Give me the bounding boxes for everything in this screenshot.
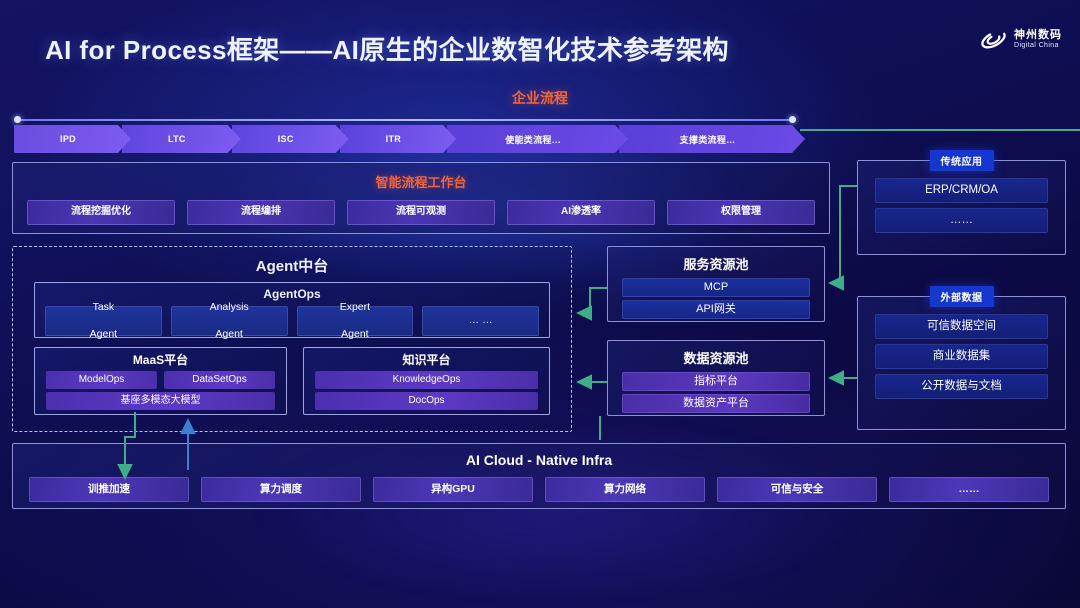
infra-item[interactable]: 可信与安全 (717, 477, 877, 502)
knowledge-title: 知识平台 (304, 351, 549, 368)
data-pool-item-list: 指标平台数据资产平台 (608, 367, 824, 413)
knowledge-item[interactable]: DocOps (315, 392, 538, 410)
knowledge-row-2: DocOps (304, 389, 549, 410)
logo-text-en: Digital China (1014, 42, 1062, 49)
workbench-item[interactable]: 流程可观测 (347, 200, 495, 225)
maas-item[interactable]: 基座多模态大模型 (46, 392, 275, 410)
data-pool-item[interactable]: 指标平台 (622, 372, 810, 391)
workbench-title: 智能流程工作台 (13, 172, 829, 191)
service-resource-pool-panel: 服务资源池 MCPAPI网关 (607, 246, 825, 322)
ai-cloud-native-infra-panel: AI Cloud - Native Infra 训推加速算力调度异构GPU算力网… (12, 443, 1066, 509)
agentops-item[interactable]: … … (422, 306, 539, 336)
external-data-item[interactable]: 商业数据集 (875, 344, 1048, 369)
workbench-item[interactable]: 权限管理 (667, 200, 815, 225)
intelligent-process-workbench-panel: 智能流程工作台 流程挖掘优化流程编排流程可观测AI渗透率权限管理 (12, 162, 830, 234)
process-chevron-label: 支撑类流程… (680, 133, 745, 146)
knowledge-row-1: KnowledgeOps (304, 368, 549, 389)
agentops-item[interactable]: AnalysisAgent (171, 306, 288, 336)
process-chevron-label: ISC (278, 134, 303, 144)
external-data-item[interactable]: 公开数据与文档 (875, 374, 1048, 399)
agentops-item-line: Agent (341, 328, 368, 341)
maas-row-2: 基座多模态大模型 (35, 389, 286, 410)
service-pool-item[interactable]: API网关 (622, 300, 810, 319)
external-data-item[interactable]: 可信数据空间 (875, 314, 1048, 339)
maas-platform-panel: MaaS平台 ModelOpsDataSetOps 基座多模态大模型 (34, 347, 287, 415)
infra-item[interactable]: …… (889, 477, 1049, 502)
agentops-item[interactable]: ExpertAgent (297, 306, 414, 336)
service-pool-item-list: MCPAPI网关 (608, 273, 824, 319)
service-pool-title: 服务资源池 (608, 254, 824, 273)
service-pool-item[interactable]: MCP (622, 278, 810, 297)
infra-item[interactable]: 算力网络 (545, 477, 705, 502)
agentops-item-list: TaskAgentAnalysisAgentExpertAgent… … (35, 301, 549, 336)
workbench-item[interactable]: 流程挖掘优化 (27, 200, 175, 225)
agentops-panel: AgentOps TaskAgentAnalysisAgentExpertAge… (34, 282, 550, 338)
agent-mid-platform-panel: Agent中台 AgentOps TaskAgentAnalysisAgentE… (12, 246, 572, 432)
infra-title: AI Cloud - Native Infra (13, 452, 1065, 468)
process-chevron[interactable]: ITR (340, 125, 456, 153)
workbench-item-list: 流程挖掘优化流程编排流程可观测AI渗透率权限管理 (13, 191, 829, 225)
process-chevron[interactable]: IPD (14, 125, 131, 153)
process-chevron[interactable]: 使能类流程… (447, 125, 628, 153)
process-chevron[interactable]: LTC (122, 125, 241, 153)
external-data-item-list: 可信数据空间商业数据集公开数据与文档 (858, 297, 1065, 399)
maas-title: MaaS平台 (35, 351, 286, 368)
agentops-title: AgentOps (35, 287, 549, 301)
logo-text-cn: 神州数码 (1014, 30, 1062, 42)
swirl-logo-icon (980, 26, 1007, 53)
process-chevron[interactable]: ISC (232, 125, 349, 153)
process-rail-dot-right (789, 116, 796, 123)
infra-item[interactable]: 训推加速 (29, 477, 189, 502)
agentops-item-line: Agent (215, 328, 242, 341)
knowledge-platform-panel: 知识平台 KnowledgeOps DocOps (303, 347, 550, 415)
workbench-item[interactable]: AI渗透率 (507, 200, 655, 225)
architecture-diagram: AI for Process框架——AI原生的企业数智化技术参考架构 神州数码 … (0, 0, 1080, 608)
process-chevron-list: IPDLTCISCITR使能类流程…支撑类流程… (14, 125, 796, 153)
data-resource-pool-panel: 数据资源池 指标平台数据资产平台 (607, 340, 825, 416)
process-rail-line (19, 119, 791, 121)
legacy-apps-badge: 传统应用 (930, 150, 994, 171)
process-rail (14, 117, 796, 122)
agent-platform-title: Agent中台 (13, 255, 571, 276)
maas-item[interactable]: ModelOps (46, 371, 157, 389)
workbench-item[interactable]: 流程编排 (187, 200, 335, 225)
data-pool-title: 数据资源池 (608, 348, 824, 367)
process-chevron-label: ITR (386, 134, 410, 144)
agentops-item-line: Task (93, 301, 115, 314)
infra-item[interactable]: 异构GPU (373, 477, 533, 502)
page-title: AI for Process框架——AI原生的企业数智化技术参考架构 (45, 30, 729, 67)
legacy-app-item[interactable]: …… (875, 208, 1048, 233)
external-data-badge: 外部数据 (930, 286, 994, 307)
infra-item-list: 训推加速算力调度异构GPU算力网络可信与安全…… (13, 468, 1065, 502)
legacy-applications-panel: 传统应用 ERP/CRM/OA…… (857, 160, 1066, 255)
process-chevron[interactable]: 支撑类流程… (619, 125, 805, 153)
process-rail-dot-left (14, 116, 21, 123)
legacy-apps-item-list: ERP/CRM/OA…… (858, 161, 1065, 233)
external-data-panel: 外部数据 可信数据空间商业数据集公开数据与文档 (857, 296, 1066, 430)
infra-item[interactable]: 算力调度 (201, 477, 361, 502)
agentops-item-line: Analysis (210, 301, 249, 314)
process-band-label: 企业流程 (0, 88, 1080, 108)
process-chevron-label: IPD (60, 134, 85, 144)
agentops-item-line: Agent (90, 328, 117, 341)
maas-item[interactable]: DataSetOps (164, 371, 275, 389)
agentops-item[interactable]: TaskAgent (45, 306, 162, 336)
brand-logo: 神州数码 Digital China (980, 26, 1062, 53)
legacy-app-item[interactable]: ERP/CRM/OA (875, 178, 1048, 203)
data-pool-item[interactable]: 数据资产平台 (622, 394, 810, 413)
process-chevron-label: 使能类流程… (505, 133, 570, 146)
knowledge-item[interactable]: KnowledgeOps (315, 371, 538, 389)
maas-row-1: ModelOpsDataSetOps (35, 368, 286, 389)
agentops-item-line: Expert (340, 301, 370, 314)
process-chevron-label: LTC (168, 134, 195, 144)
